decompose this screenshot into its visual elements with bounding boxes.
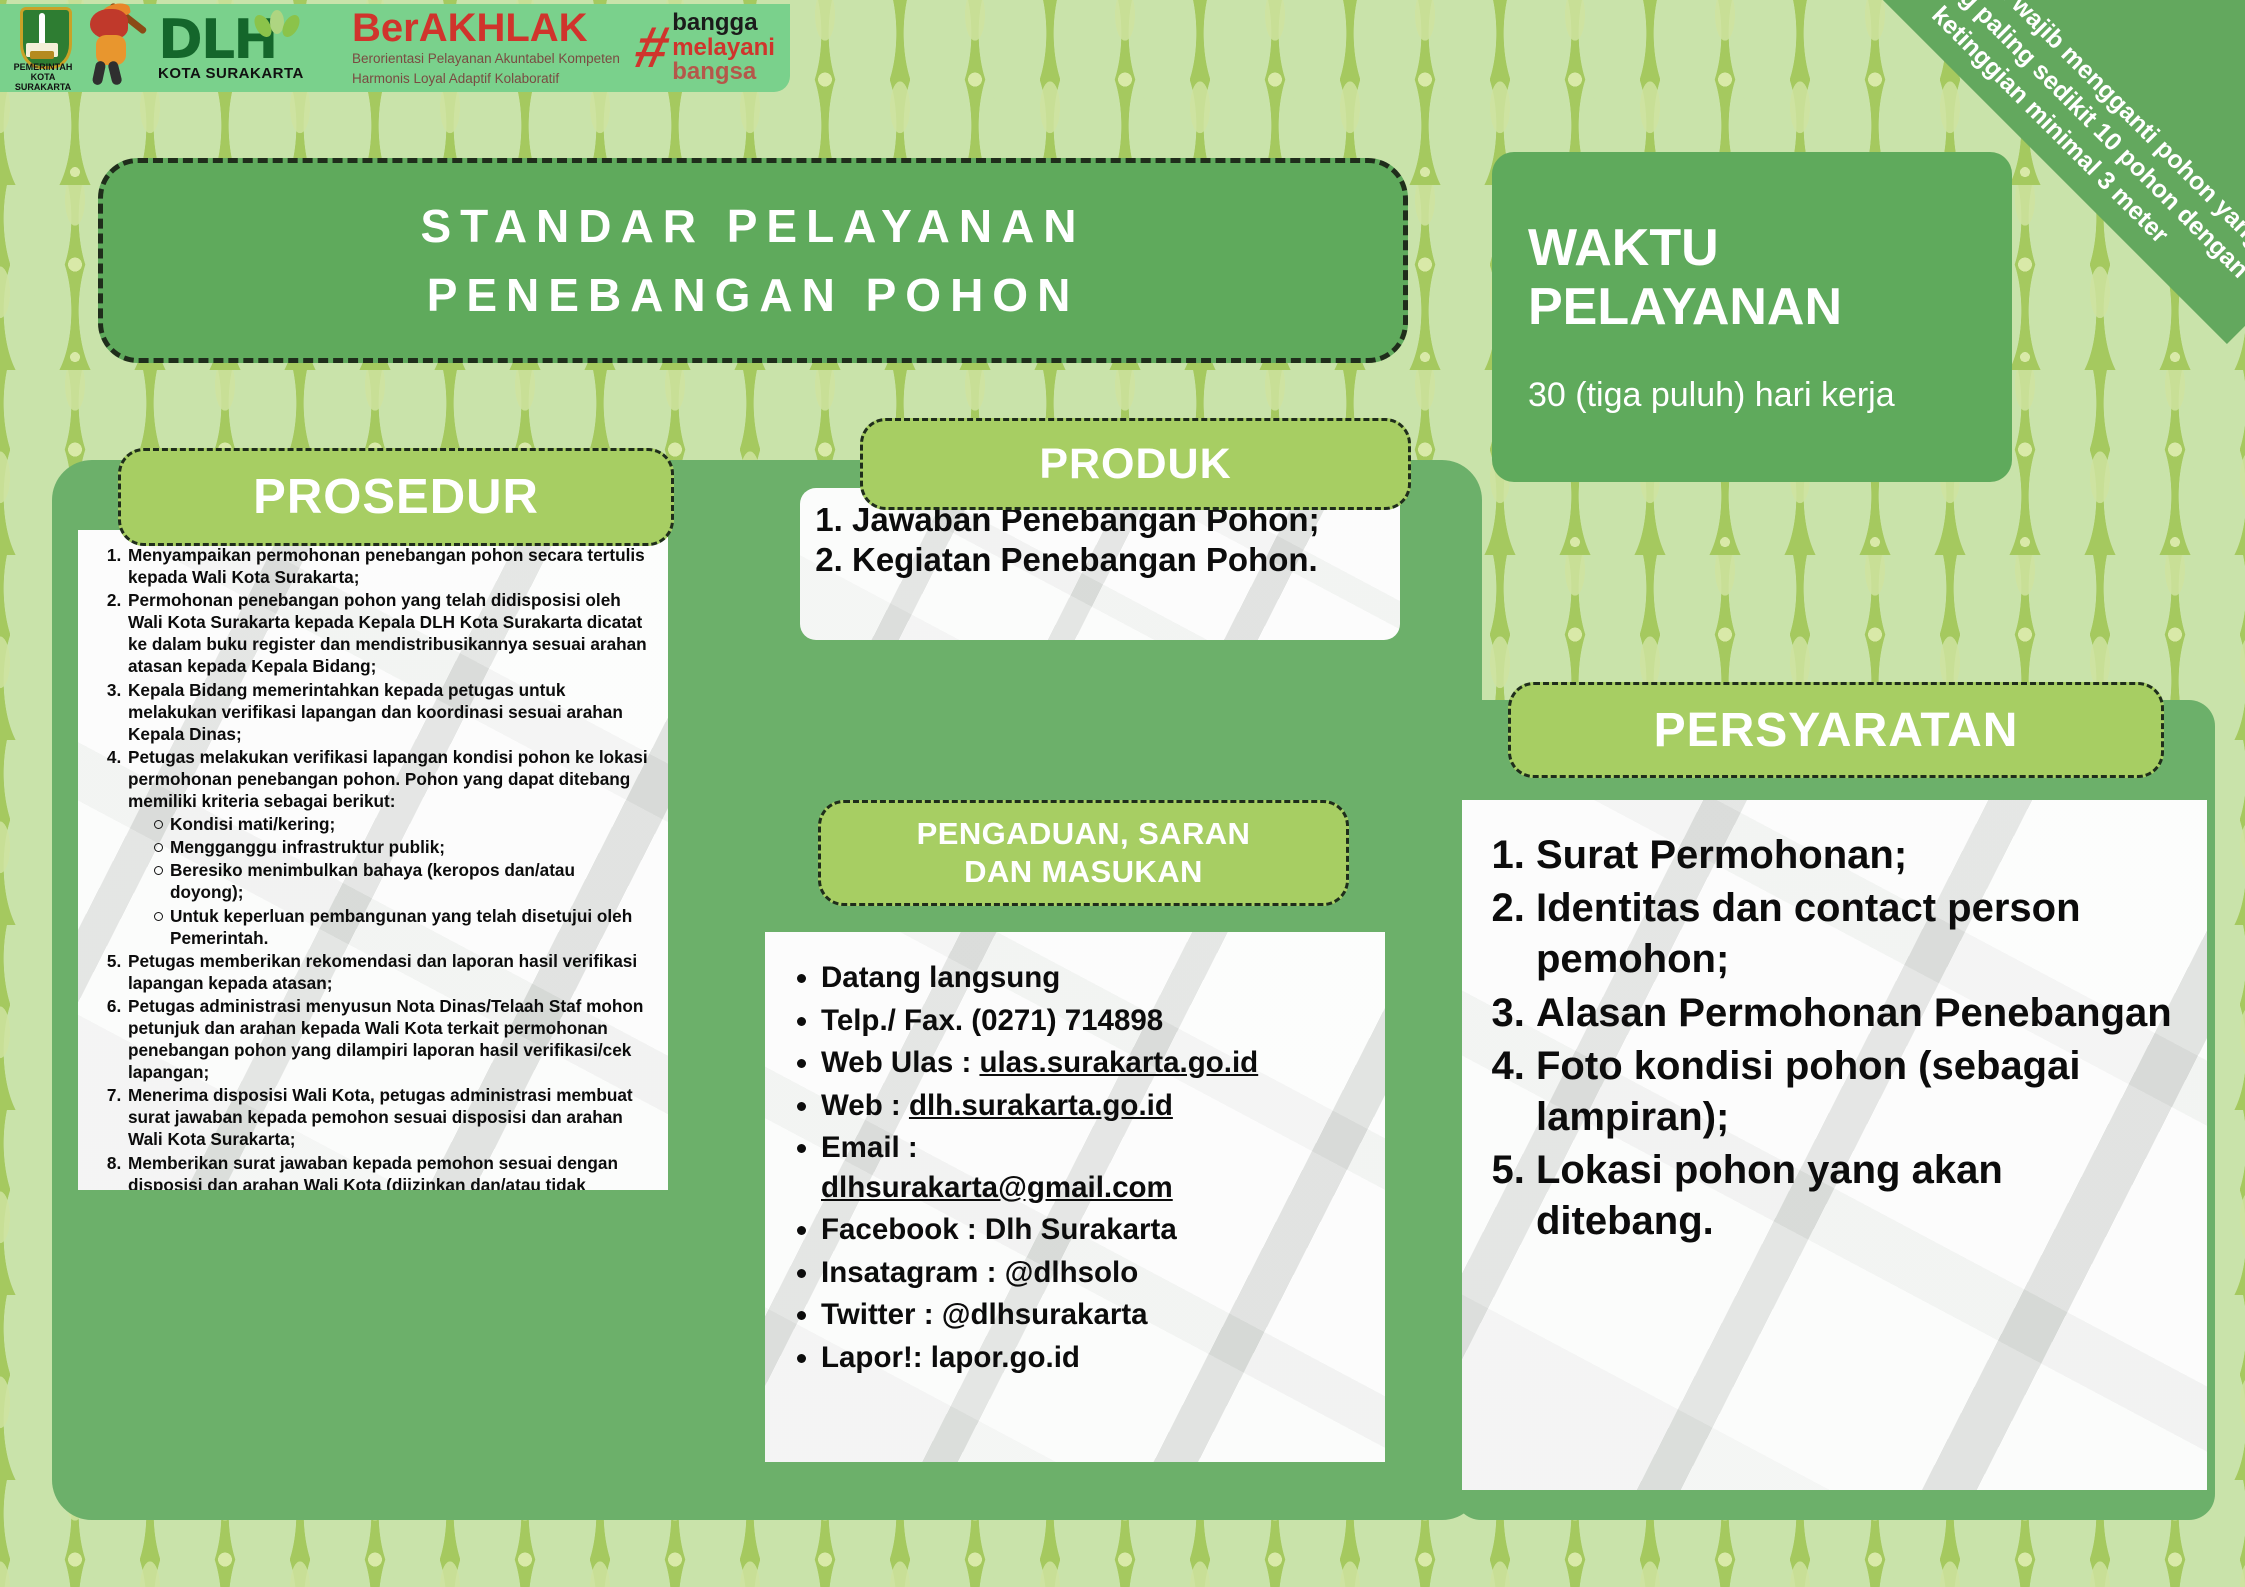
persyaratan-item: Identitas dan contact person pemohon; bbox=[1536, 883, 2189, 985]
contact-item-web: Web : dlh.surakarta.go.id bbox=[821, 1086, 1367, 1126]
contact-item-facebook: Facebook : Dlh Surakarta bbox=[821, 1210, 1367, 1250]
prosedur-item-text: Petugas melakukan verifikasi lapangan ko… bbox=[128, 747, 648, 811]
contact-item-web-ulas: Web Ulas : ulas.surakarta.go.id bbox=[821, 1043, 1367, 1083]
bangga-line1: bangga bbox=[672, 11, 775, 35]
contact-label: Web Ulas : bbox=[821, 1046, 979, 1079]
contact-item-twitter: Twitter : @dlhsurakarta bbox=[821, 1295, 1367, 1335]
crest-monument-shape bbox=[39, 13, 45, 47]
prosedur-item: Menyampaikan permohonan penebangan pohon… bbox=[126, 544, 652, 588]
contact-item-lapor: Lapor!: lapor.go.id bbox=[821, 1338, 1367, 1378]
produk-item: Kegiatan Penebangan Pohon. bbox=[852, 540, 1382, 580]
contact-label: Email : bbox=[821, 1131, 918, 1164]
berakhlak-tagline-line2: Harmonis Loyal Adaptif Kolaboratif bbox=[352, 71, 620, 88]
persyaratan-list-card: Surat Permohonan; Identitas dan contact … bbox=[1462, 800, 2207, 1490]
section-heading-persyaratan: PERSYARATAN bbox=[1508, 682, 2164, 778]
contact-item-phone: Telp./ Fax. (0271) 714898 bbox=[821, 1001, 1367, 1041]
mascot-leg-left-shape bbox=[92, 60, 107, 86]
kriteria-item: Mengganggu infrastruktur publik; bbox=[154, 836, 652, 858]
gareng-mascot-icon bbox=[76, 5, 154, 91]
bangga-melayani-bangsa-logo: # bangga melayani bangsa bbox=[636, 11, 775, 84]
contact-link-email[interactable]: dlhsurakarta@gmail.com bbox=[821, 1171, 1173, 1204]
prosedur-kriteria-list: Kondisi mati/kering; Mengganggu infrastr… bbox=[128, 813, 652, 949]
prosedur-item: Petugas administrasi menyusun Nota Dinas… bbox=[126, 995, 652, 1083]
contact-label: Web : bbox=[821, 1089, 909, 1122]
page-title-line1: STANDAR PELAYANAN bbox=[420, 192, 1085, 261]
kriteria-item: Untuk keperluan pembangunan yang telah d… bbox=[154, 905, 652, 949]
bangga-line2: melayani bbox=[672, 36, 775, 60]
waktu-heading-line1: WAKTU bbox=[1528, 219, 1976, 277]
section-heading-pengaduan: PENGADUAN, SARAN DAN MASUKAN bbox=[818, 800, 1349, 906]
waktu-detail: 30 (tiga puluh) hari kerja bbox=[1528, 376, 1976, 415]
page-title-banner: STANDAR PELAYANAN PENEBANGAN POHON bbox=[98, 158, 1408, 363]
dlh-leaf-icon bbox=[254, 10, 300, 36]
prosedur-item: Permohonan penebangan pohon yang telah d… bbox=[126, 589, 652, 677]
pengaduan-contact-list: Datang langsung Telp./ Fax. (0271) 71489… bbox=[787, 958, 1367, 1377]
waktu-heading-line2: PELAYANAN bbox=[1528, 278, 1976, 336]
prosedur-item: Kepala Bidang memerintahkan kepada petug… bbox=[126, 679, 652, 745]
persyaratan-item: Surat Permohonan; bbox=[1536, 830, 2189, 881]
crest-cap-shape bbox=[30, 51, 54, 59]
pengaduan-heading-line1: PENGADUAN, SARAN bbox=[917, 815, 1251, 853]
produk-list-card: Jawaban Penebangan Pohon; Kegiatan Peneb… bbox=[800, 488, 1400, 640]
berakhlak-title: BerAKHLAK bbox=[352, 8, 620, 48]
contact-link-web[interactable]: dlh.surakarta.go.id bbox=[909, 1089, 1173, 1122]
bangga-text-group: bangga melayani bangsa bbox=[672, 11, 775, 84]
persyaratan-item: Lokasi pohon yang akan ditebang. bbox=[1536, 1145, 2189, 1247]
surakarta-city-crest-icon: PEMERINTAH KOTA SURAKARTA bbox=[12, 5, 74, 91]
dlh-logo: DLH KOTA SURAKARTA bbox=[158, 14, 336, 82]
persyaratan-item: Foto kondisi pohon (sebagai lampiran); bbox=[1536, 1041, 2189, 1143]
page-title-line2: PENEBANGAN POHON bbox=[427, 261, 1080, 330]
crest-caption: PEMERINTAH KOTA SURAKARTA bbox=[6, 63, 80, 93]
contact-item-email: Email : dlhsurakarta@gmail.com bbox=[821, 1128, 1367, 1207]
dlh-logo-subtitle: KOTA SURAKARTA bbox=[158, 65, 336, 82]
prosedur-item: Menerima disposisi Wali Kota, petugas ad… bbox=[126, 1084, 652, 1150]
prosedur-item: Petugas melakukan verifikasi lapangan ko… bbox=[126, 746, 652, 949]
pengaduan-heading-line2: DAN MASUKAN bbox=[917, 853, 1251, 891]
contact-item-instagram: Insatagram : @dlhsolo bbox=[821, 1253, 1367, 1293]
produk-list: Jawaban Penebangan Pohon; Kegiatan Peneb… bbox=[818, 500, 1382, 579]
prosedur-list: Menyampaikan permohonan penebangan pohon… bbox=[92, 544, 652, 1190]
persyaratan-item: Alasan Permohonan Penebangan bbox=[1536, 988, 2189, 1039]
kriteria-item: Kondisi mati/kering; bbox=[154, 813, 652, 835]
section-heading-produk: PRODUK bbox=[860, 418, 1411, 510]
persyaratan-list: Surat Permohonan; Identitas dan contact … bbox=[1488, 830, 2189, 1248]
header-logo-bar: PEMERINTAH KOTA SURAKARTA DLH KOTA SURAK… bbox=[0, 4, 790, 92]
section-heading-prosedur: PROSEDUR bbox=[118, 448, 674, 546]
kriteria-item: Beresiko menimbulkan bahaya (keropos dan… bbox=[154, 859, 652, 903]
berakhlak-logo: BerAKHLAK Berorientasi Pelayanan Akuntab… bbox=[352, 8, 620, 88]
pengaduan-contact-card: Datang langsung Telp./ Fax. (0271) 71489… bbox=[765, 932, 1385, 1462]
crest-caption-line2: KOTA SURAKARTA bbox=[6, 73, 80, 93]
berakhlak-tagline-line1: Berorientasi Pelayanan Akuntabel Kompete… bbox=[352, 51, 620, 68]
contact-link-web-ulas[interactable]: ulas.surakarta.go.id bbox=[979, 1046, 1258, 1079]
hashtag-icon: # bbox=[631, 25, 673, 71]
mascot-leg-right-shape bbox=[107, 60, 123, 86]
contact-item-walk-in: Datang langsung bbox=[821, 958, 1367, 998]
dlh-logo-text: DLH bbox=[158, 14, 336, 65]
prosedur-item: Memberikan surat jawaban kepada pemohon … bbox=[126, 1152, 652, 1190]
prosedur-list-card: Menyampaikan permohonan penebangan pohon… bbox=[78, 530, 668, 1190]
waktu-pelayanan-card: WAKTU PELAYANAN 30 (tiga puluh) hari ker… bbox=[1492, 152, 2012, 482]
prosedur-item: Petugas memberikan rekomendasi dan lapor… bbox=[126, 950, 652, 994]
bangga-line3: bangsa bbox=[672, 60, 775, 84]
crest-shield-shape bbox=[20, 7, 72, 69]
